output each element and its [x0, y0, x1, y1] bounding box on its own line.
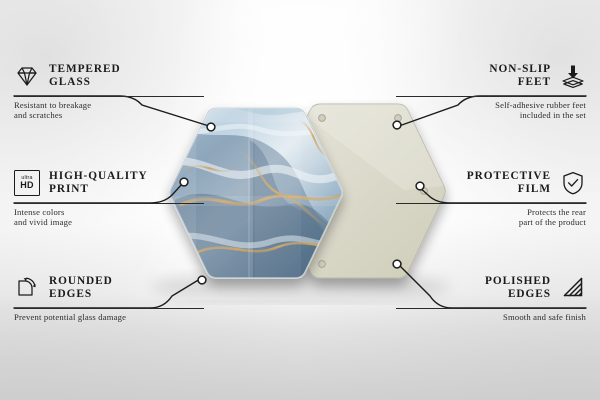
- feature-protective-film: PROTECTIVE FILM Protects the rear part o…: [396, 165, 586, 227]
- feature-title: ROUNDED EDGES: [49, 275, 204, 300]
- feature-header: POLISHED EDGES: [396, 270, 586, 306]
- feature-description: Intense colors and vivid image: [14, 207, 204, 227]
- feature-description: Prevent potential glass damage: [14, 312, 204, 322]
- feature-title: TEMPERED GLASS: [49, 63, 204, 88]
- diagonal-hatch-icon: [560, 275, 586, 301]
- feature-divider: [14, 203, 204, 204]
- feature-high-quality-print: ultra HD HIGH-QUALITY PRINT Intense colo…: [14, 165, 204, 227]
- infographic-canvas: TEMPERED GLASS Resistant to breakage and…: [0, 0, 600, 400]
- feature-divider: [14, 96, 204, 97]
- shield-check-icon: [560, 170, 586, 196]
- feature-description: Resistant to breakage and scratches: [14, 100, 204, 120]
- feature-divider: [396, 203, 586, 204]
- connector-dot-non-slip-feet: [393, 121, 401, 129]
- ultra-hd-badge-icon: ultra HD: [14, 170, 40, 196]
- feature-header: TEMPERED GLASS: [14, 58, 204, 94]
- ultra-hd-large-text: HD: [20, 181, 33, 190]
- feature-title: POLISHED EDGES: [396, 275, 551, 300]
- connector-dot-tempered-glass: [207, 123, 215, 131]
- feature-divider: [14, 308, 204, 309]
- feature-title: PROTECTIVE FILM: [396, 170, 551, 195]
- feature-header: PROTECTIVE FILM: [396, 165, 586, 201]
- feature-tempered-glass: TEMPERED GLASS Resistant to breakage and…: [14, 58, 204, 120]
- feature-header: NON-SLIP FEET: [396, 58, 586, 94]
- press-down-pad-icon: [560, 63, 586, 89]
- feature-polished-edges: POLISHED EDGES Smooth and safe finish: [396, 270, 586, 322]
- feature-non-slip-feet: NON-SLIP FEET Self-adhesive rubber feet …: [396, 58, 586, 120]
- feature-header: ultra HD HIGH-QUALITY PRINT: [14, 165, 204, 201]
- feature-divider: [396, 96, 586, 97]
- feature-title: HIGH-QUALITY PRINT: [49, 170, 204, 195]
- rounded-corner-icon: [14, 275, 40, 301]
- feature-description: Smooth and safe finish: [396, 312, 586, 322]
- feature-header: ROUNDED EDGES: [14, 270, 204, 306]
- feature-description: Protects the rear part of the product: [396, 207, 586, 227]
- diamond-icon: [14, 63, 40, 89]
- feature-description: Self-adhesive rubber feet included in th…: [396, 100, 586, 120]
- feature-rounded-edges: ROUNDED EDGES Prevent potential glass da…: [14, 270, 204, 322]
- feature-title: NON-SLIP FEET: [396, 63, 551, 88]
- feature-divider: [396, 308, 586, 309]
- connector-dot-polished-edges: [393, 260, 401, 268]
